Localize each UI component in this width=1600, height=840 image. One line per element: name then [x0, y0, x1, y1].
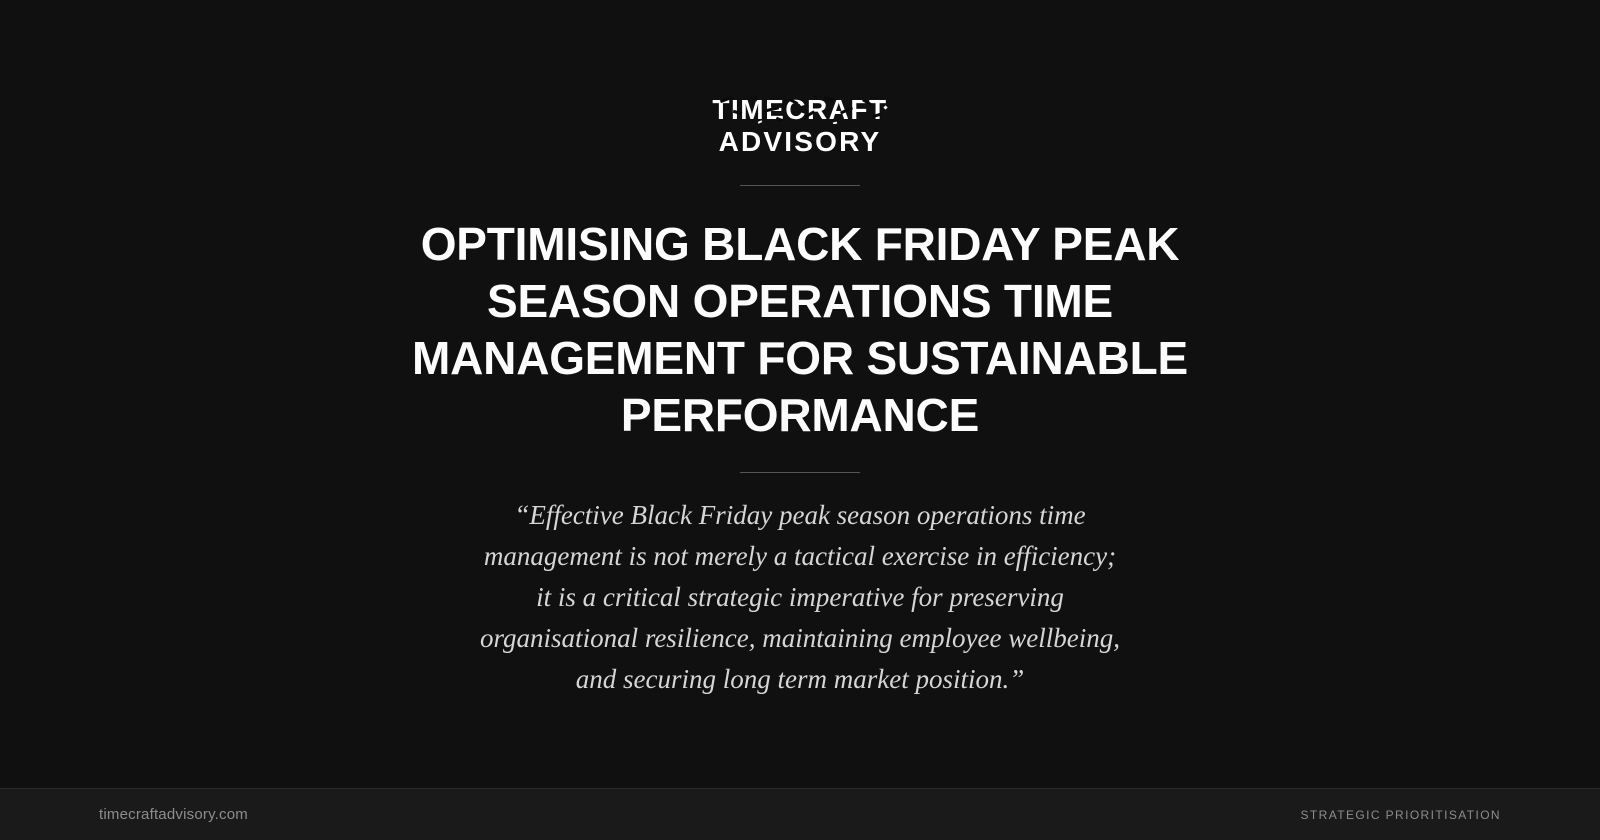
footer-section-label: STRATEGIC PRIORITISATION	[1301, 808, 1502, 822]
brand-logo: TIMECRAFT ADVISORY	[712, 96, 887, 156]
brand-wordmark-primary: TIMECRAFT	[712, 96, 887, 124]
slide-footer: timecraftadvisory.com STRATEGIC PRIORITI…	[0, 788, 1600, 840]
slide-body: TIMECRAFT ADVISORY OPTIMISING BLACK FRID…	[0, 0, 1600, 788]
brand-wordmark-secondary: ADVISORY	[719, 128, 882, 156]
page-title: OPTIMISING BLACK FRIDAY PEAK SEASON OPER…	[340, 216, 1260, 444]
divider-above-quote	[740, 472, 860, 473]
footer-website[interactable]: timecraftadvisory.com	[99, 806, 248, 823]
pull-quote: “Effective Black Friday peak season oper…	[475, 495, 1125, 700]
presentation-slide: TIMECRAFT ADVISORY OPTIMISING BLACK FRID…	[0, 0, 1600, 840]
divider-above-title	[740, 185, 860, 186]
brand-wordmark-primary-text: TIMECRAFT	[712, 94, 887, 125]
